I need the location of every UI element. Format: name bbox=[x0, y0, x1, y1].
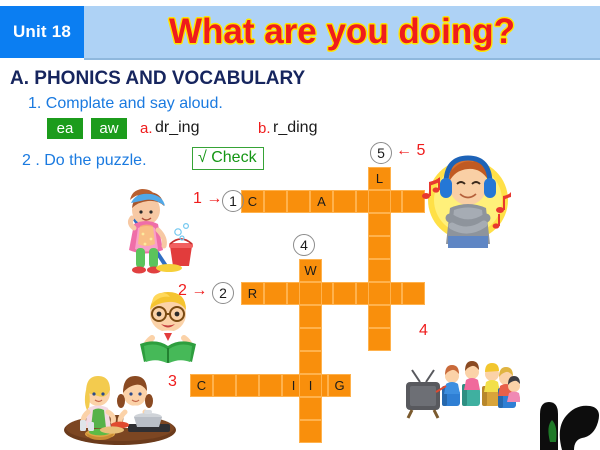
crossword-cell-down-5-3[interactable] bbox=[368, 213, 391, 236]
clue-side-label-4: 4 bbox=[419, 322, 428, 340]
crossword-cell-down-5-8[interactable] bbox=[368, 328, 391, 351]
section-heading: A. PHONICS AND VOCABULARY bbox=[10, 68, 305, 90]
crossword-cell-down-4-1[interactable]: W bbox=[299, 259, 322, 282]
unit-badge: Unit 18 bbox=[0, 6, 84, 58]
children-watching-tv-illustration bbox=[402, 356, 520, 422]
header-divider bbox=[84, 58, 600, 60]
task-2-label: 2 . Do the puzzle. bbox=[22, 152, 147, 170]
crossword-cell-across-1-4[interactable]: A bbox=[310, 190, 333, 213]
page-title: What are you doing? bbox=[84, 6, 600, 58]
crossword-cell-down-5-6[interactable] bbox=[368, 282, 391, 305]
clue-marker-1: 1 bbox=[222, 190, 244, 212]
slide-canvas: Unit 18 What are you doing? A. PHONICS A… bbox=[0, 0, 600, 450]
crossword-cell-down-4-7[interactable] bbox=[299, 397, 322, 420]
crossword-cell-down-4-5[interactable] bbox=[299, 351, 322, 374]
crossword-cell-across-1-1[interactable]: C bbox=[241, 190, 264, 213]
crossword-cell-down-4-4[interactable] bbox=[299, 328, 322, 351]
crossword-cell-down-5-5[interactable] bbox=[368, 259, 391, 282]
crossword-cell-across-1-5[interactable] bbox=[333, 190, 356, 213]
phonics-chip-ea[interactable]: ea bbox=[47, 118, 83, 139]
crossword-cell-across-2-1[interactable]: R bbox=[241, 282, 264, 305]
phonics-item-b-word: r_ding bbox=[273, 119, 317, 137]
crossword-cell-down-4-2[interactable] bbox=[299, 282, 322, 305]
phonics-item-a-label: a. bbox=[140, 120, 153, 137]
phonics-item-a-word: dr_ing bbox=[155, 119, 199, 137]
crossword-cell-down-5-1[interactable]: L bbox=[368, 167, 391, 190]
crossword-cell-down-4-8[interactable] bbox=[299, 420, 322, 443]
task-1-label: 1. Complate and say aloud. bbox=[28, 95, 223, 113]
girl-mopping-illustration bbox=[112, 186, 198, 274]
crossword-cell-down-4-6[interactable]: I bbox=[299, 374, 322, 397]
clue-marker-4: 4 bbox=[293, 234, 315, 256]
phonics-item-b-label: b. bbox=[258, 120, 271, 137]
crossword-cell-down-5-7[interactable] bbox=[368, 305, 391, 328]
boy-reading-illustration bbox=[128, 288, 208, 364]
clue-marker-2: 2 bbox=[212, 282, 234, 304]
crossword-cell-across-2-8[interactable] bbox=[402, 282, 425, 305]
crossword-cell-across-2-5[interactable] bbox=[333, 282, 356, 305]
crossword-cell-across-3-7[interactable]: G bbox=[328, 374, 351, 397]
crossword-cell-down-4-3[interactable] bbox=[299, 305, 322, 328]
crossword-cell-across-3-3[interactable] bbox=[236, 374, 259, 397]
check-button[interactable]: √ Check bbox=[192, 147, 264, 170]
crossword-cell-across-3-1[interactable]: C bbox=[190, 374, 213, 397]
crossword-cell-down-5-2[interactable] bbox=[368, 190, 391, 213]
crossword-cell-down-5-4[interactable] bbox=[368, 236, 391, 259]
crossword-cell-across-3-4[interactable] bbox=[259, 374, 282, 397]
crossword-cell-across-1-3[interactable] bbox=[287, 190, 310, 213]
crossword-cell-across-1-2[interactable] bbox=[264, 190, 287, 213]
clue-marker-5: 5 bbox=[370, 142, 392, 164]
crossword-cell-across-2-2[interactable] bbox=[264, 282, 287, 305]
crossword-cell-across-3-2[interactable] bbox=[213, 374, 236, 397]
corner-silhouette-icon bbox=[528, 388, 600, 450]
phonics-chip-aw[interactable]: aw bbox=[91, 118, 127, 139]
boy-listening-music-illustration bbox=[412, 152, 514, 248]
girls-cooking-illustration bbox=[62, 368, 180, 446]
